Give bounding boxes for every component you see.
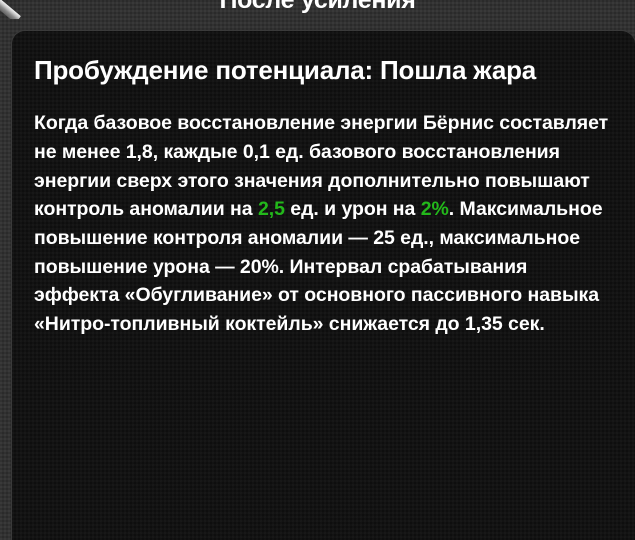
card-body-text: Когда базовое восстановление энергии Бёр… — [34, 109, 613, 338]
body-highlight-damage-value: 2% — [421, 198, 449, 220]
card-title: Пробуждение потенциала: Пошла жара — [34, 53, 579, 87]
body-highlight-anomaly-value: 2,5 — [258, 198, 285, 220]
skill-description-card: Пробуждение потенциала: Пошла жара Когда… — [11, 30, 635, 540]
body-segment-2: ед. и урон на — [285, 198, 421, 220]
section-header-title: После усиления — [0, 0, 635, 15]
